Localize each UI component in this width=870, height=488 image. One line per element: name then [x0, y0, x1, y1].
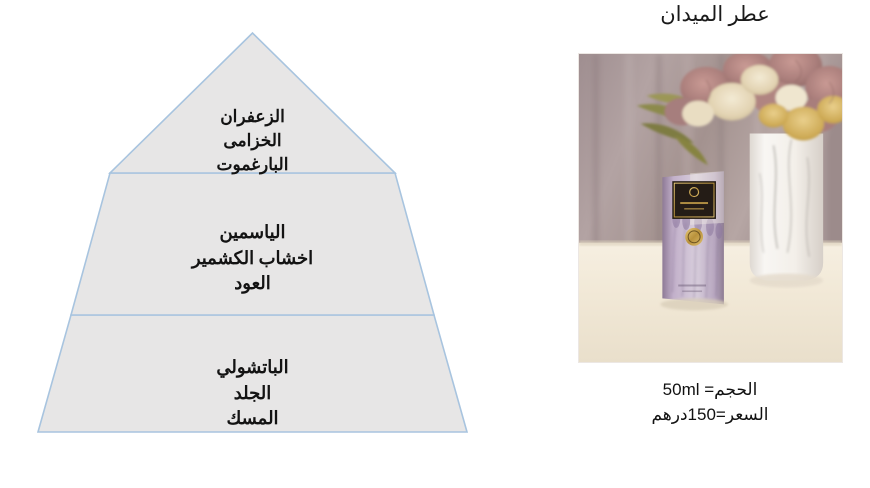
page-title: عطر الميدان: [560, 2, 870, 27]
note-line: الزعفران: [30, 105, 475, 129]
pyramid-base-notes-text: الباتشولي الجلد المسك: [30, 355, 475, 432]
note-line: المسك: [30, 406, 475, 432]
product-photo-image: [579, 54, 842, 362]
product-photo[interactable]: [578, 53, 843, 363]
note-line: البارغموت: [30, 153, 475, 177]
note-line: الياسمين: [30, 220, 475, 246]
note-line: اخشاب الكشمير: [30, 246, 475, 272]
product-caption: الحجم= 50ml السعر=150درهم: [560, 378, 860, 427]
caption-price: السعر=150درهم: [560, 403, 860, 428]
slide-canvas: عطر الميدان الزعفران الخزامى البارغموت ا…: [0, 0, 870, 488]
note-line: العود: [30, 271, 475, 297]
perfume-box: [660, 171, 727, 310]
caption-size: الحجم= 50ml: [560, 378, 860, 403]
fragrance-pyramid: الزعفران الخزامى البارغموت الياسمين اخشا…: [30, 25, 475, 445]
note-line: الخزامى: [30, 129, 475, 153]
pyramid-heart-notes-text: الياسمين اخشاب الكشمير العود: [30, 220, 475, 297]
vase: [750, 133, 823, 287]
pyramid-top-notes-text: الزعفران الخزامى البارغموت: [30, 105, 475, 177]
note-line: الباتشولي: [30, 355, 475, 381]
note-line: الجلد: [30, 381, 475, 407]
